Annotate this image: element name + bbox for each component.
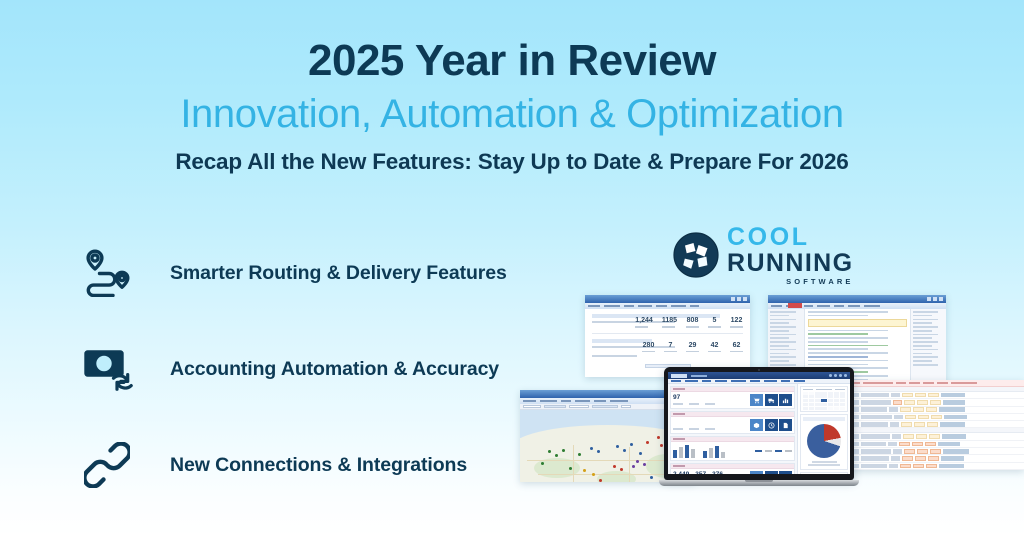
truck-icon[interactable] [765,394,778,406]
feature-item-accounting: Accounting Automation & Accuracy [84,321,524,417]
rate-table-window [845,380,1024,470]
document-icon[interactable] [779,419,792,431]
kpi: 2,449 [673,472,689,474]
feature-item-routing: Smarter Routing & Delivery Features [84,225,524,321]
feature-list: Smarter Routing & Delivery Features Acco… [84,225,524,513]
product-screenshot-collage: 1,244 1185 808 5 122 280 7 29 42 62 [505,285,1024,510]
table-row[interactable] [845,441,1024,448]
clock-icon[interactable] [765,419,778,431]
dashboard-logo [671,374,687,378]
box-icon[interactable] [750,419,763,431]
cool-running-circle-mark [672,231,720,279]
stat-value: 808 [686,317,699,328]
stat-value: 280 [642,342,655,353]
page-title: 2025 Year in Review [0,38,1024,84]
window-title [588,297,589,302]
quick-action-tiles[interactable] [750,471,792,474]
kpi [705,395,715,404]
dashboard-breadcrumb [691,375,707,377]
plus-icon[interactable] [779,471,792,474]
feature-label: New Connections & Integrations [170,454,467,477]
feature-item-integrations: New Connections & Integrations [84,417,524,513]
table-row[interactable] [845,463,1024,470]
chain-link-icon [84,436,146,494]
kpi [673,420,683,429]
widget-header [803,417,845,421]
kpi-group: 2,449 357 376 [673,472,750,474]
table-row[interactable] [845,414,1024,421]
table-body [845,380,1024,470]
stat-value: 1185 [662,317,677,328]
dashboard-main-column: 97 [668,384,797,474]
laptop-lid: 97 [664,367,854,480]
route-pins-icon [84,244,146,302]
stat-row-two: 280 7 29 42 62 [592,342,743,353]
logo-line-running: RUNNING [727,251,853,276]
kpi-group: 97 [673,395,750,404]
logo-line-cool: COOL [727,225,853,250]
laptop-base [659,480,859,486]
stats-report-window: 1,244 1185 808 5 122 280 7 29 42 62 [585,295,750,377]
dashboard-app-bar [668,372,850,379]
dashboard-chart-card [670,436,795,461]
kpi [689,395,699,404]
card-body: 2,449 357 376 [671,469,794,474]
stat-value: 42 [708,342,721,353]
calendar-header[interactable] [803,389,846,391]
dashboard-side-column [797,384,850,474]
window-controls[interactable] [927,297,943,301]
notice-banner [808,319,907,327]
table-row[interactable] [845,392,1024,399]
dashboard-card: 2,449 357 376 [670,463,795,474]
logo-wordmark: COOL RUNNING SOFTWARE [727,225,853,286]
divider [592,333,743,334]
table-row[interactable] [845,448,1024,455]
card-body [671,417,794,433]
people-icon[interactable] [750,471,763,474]
stat-value: 29 [686,342,699,353]
kpi [705,420,715,429]
table-row[interactable] [845,407,1024,414]
grid-icon[interactable] [765,471,778,474]
bar-chart [673,444,751,458]
feature-label: Smarter Routing & Delivery Features [170,262,507,285]
quick-action-tiles[interactable] [750,394,792,406]
dashboard-body: 97 [668,384,850,474]
page-tagline: Recap All the New Features: Stay Up to D… [0,149,1024,175]
window-title [771,297,772,302]
hero-headings: 2025 Year in Review Innovation, Automati… [0,0,1024,175]
laptop-dashboard: 97 [659,367,859,495]
kpi [689,420,699,429]
window-controls[interactable] [731,297,747,301]
table-header-row [845,380,1024,387]
stat-value: 122 [730,317,743,328]
stat-value: 1,244 [635,317,653,328]
card-body [671,442,794,460]
kpi: 357 [695,472,706,474]
table-row[interactable] [845,399,1024,406]
window-title [523,392,524,397]
window-title-bar [585,295,750,303]
stat-value: 62 [730,342,743,353]
page-subtitle: Innovation, Automation & Optimization [0,92,1024,136]
stat-row-one: 1,244 1185 808 5 122 [592,317,743,328]
window-title-bar [768,295,946,303]
card-body: 97 [671,392,794,408]
kpi: 97 [673,395,683,404]
calendar-widget[interactable] [800,386,848,412]
row-label [592,355,637,357]
table-row[interactable] [845,455,1024,462]
kpi: 376 [712,472,723,474]
kpi-group [673,420,750,429]
stat-value: 7 [664,342,677,353]
active-tab-indicator[interactable] [788,303,802,308]
pie-chart [807,424,841,458]
table-row[interactable] [845,433,1024,440]
chart-legend [755,450,792,452]
banknote-refresh-icon [84,340,146,398]
laptop-screen: 97 [668,372,850,474]
pie-legend [803,461,845,466]
quick-action-tiles[interactable] [750,419,792,431]
dashboard-card [670,411,795,434]
calendar-grid[interactable] [803,392,846,410]
side-list-widget[interactable] [800,472,848,474]
table-row[interactable] [845,421,1024,428]
pie-chart-widget [800,414,848,470]
stat-value: 5 [708,317,721,328]
dashboard-card: 97 [670,386,795,409]
bar-chart-icon[interactable] [779,394,792,406]
cart-icon[interactable] [750,394,763,406]
brand-logo: COOL RUNNING SOFTWARE [672,228,858,282]
dashboard-user-actions[interactable] [829,374,847,377]
feature-label: Accounting Automation & Accuracy [170,358,499,381]
webcam-icon [758,369,760,371]
